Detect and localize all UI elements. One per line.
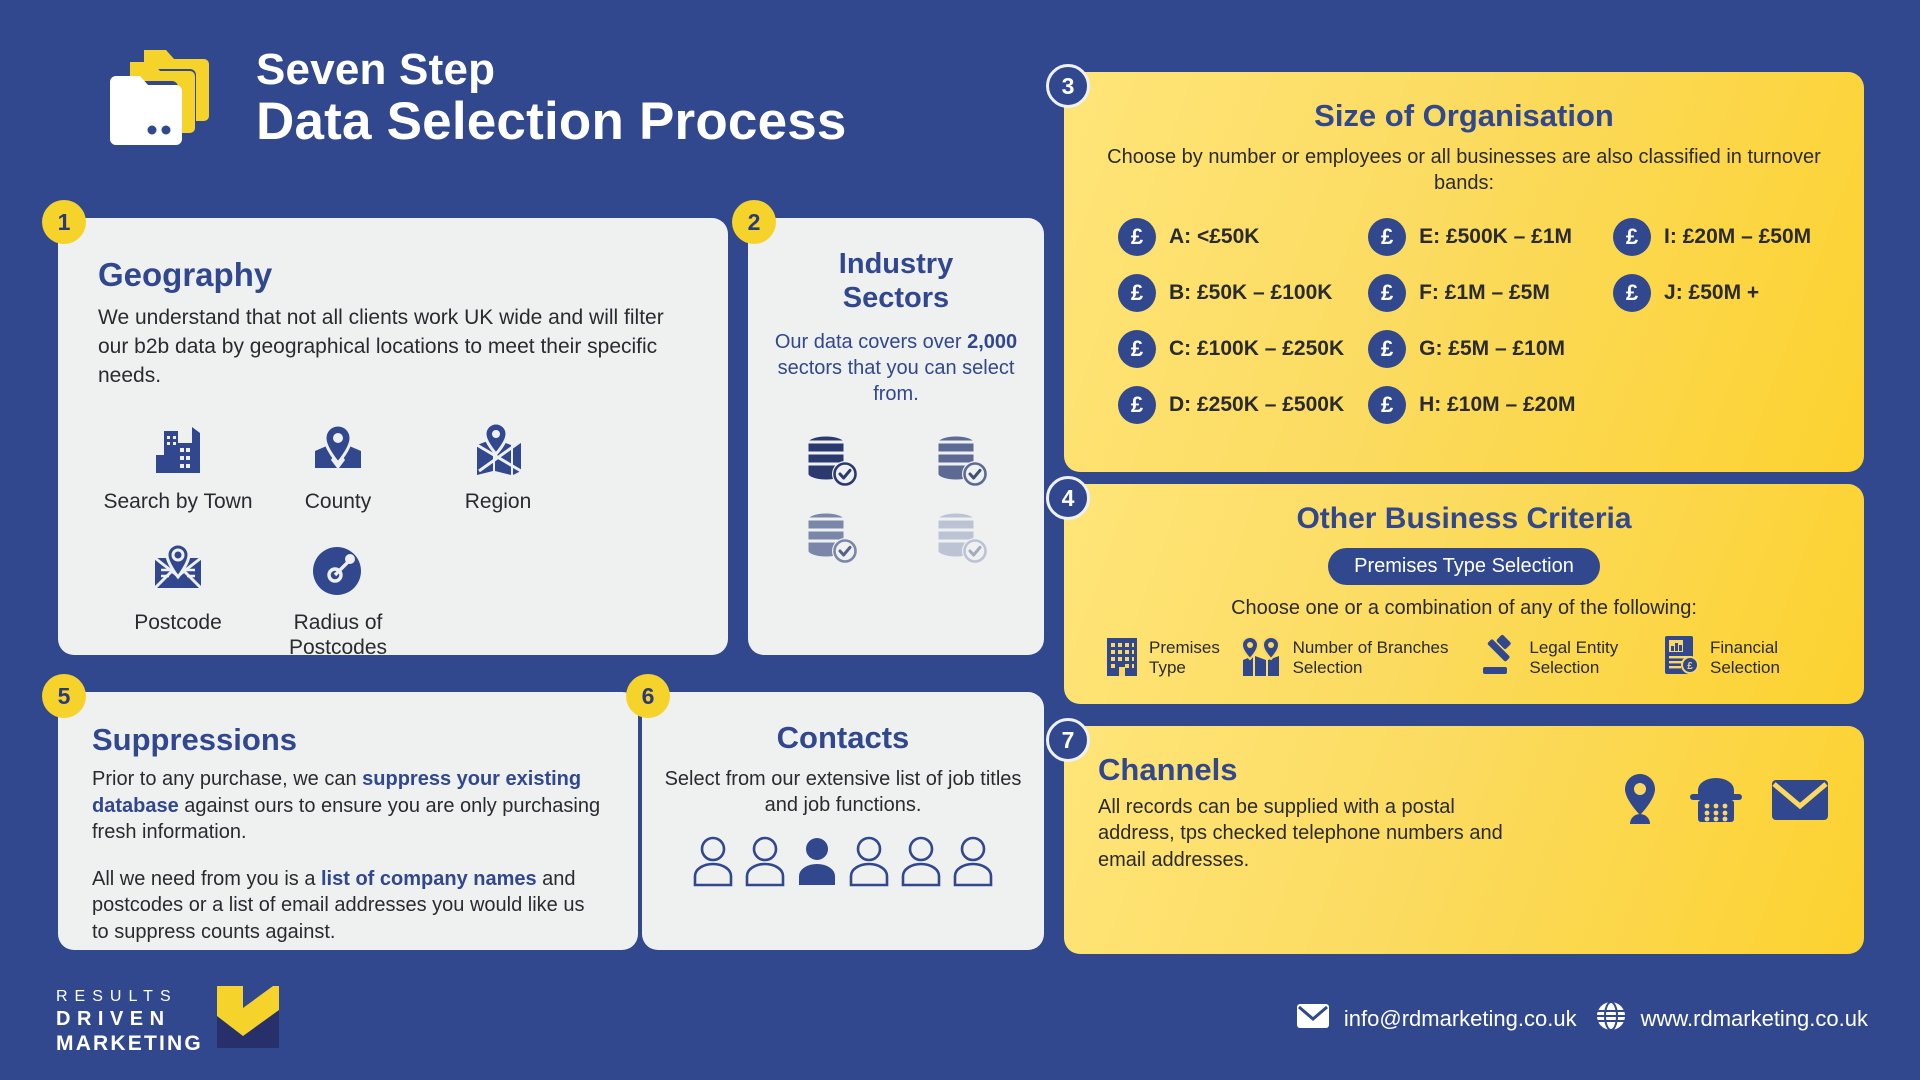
turnover-bands: £A: <£50K £E: £500K – £1M £I: £20M – £50… xyxy=(1094,218,1834,424)
criteria-item-number-of-branches[interactable]: Number of Branches Selection xyxy=(1238,634,1481,681)
person-filled-icon xyxy=(795,835,839,892)
geo-item-search-by-town[interactable]: Search by Town xyxy=(98,415,258,514)
criteria-item-label: Financial Selection xyxy=(1710,638,1824,676)
premises-type-selection-pill[interactable]: Premises Type Selection xyxy=(1328,548,1600,585)
geo-item-radius-of-postcodes[interactable]: Radius of Postcodes xyxy=(258,536,418,660)
band-e[interactable]: £E: £500K – £1M xyxy=(1344,218,1589,256)
band-c[interactable]: £C: £100K – £250K xyxy=(1094,330,1344,368)
supp-p1-a: Prior to any purchase, we can xyxy=(92,768,362,790)
map-pin-fold-icon xyxy=(309,415,367,477)
person-outline-icon xyxy=(899,835,943,892)
criteria-items: Premises Type Number of Branches xyxy=(1090,634,1838,681)
band-i[interactable]: £I: £20M – £50M xyxy=(1589,218,1834,256)
contacts-body: Select from our extensive list of job ti… xyxy=(664,766,1022,819)
industry-title-line2: Sectors xyxy=(843,282,949,314)
pound-icon: £ xyxy=(1368,218,1406,256)
band-label: H: £10M – £20M xyxy=(1419,393,1575,417)
person-outline-icon xyxy=(691,835,735,892)
envelope-icon xyxy=(1770,776,1830,829)
card-contacts: 6 Contacts Select from our extensive lis… xyxy=(642,692,1044,950)
suppressions-paragraph-2: All we need from you is a list of compan… xyxy=(92,866,604,946)
footer-logo: RESULTS DRIVEN MARKETING xyxy=(56,982,281,1061)
geo-item-region[interactable]: Region xyxy=(418,415,578,514)
office-building-icon xyxy=(1104,634,1140,681)
industry-sector-count: 2,000 xyxy=(967,331,1017,353)
chevron-mark-icon xyxy=(215,982,281,1061)
card-geography: 1 Geography We understand that not all c… xyxy=(58,218,728,655)
industry-body: Our data covers over 2,000 sectors that … xyxy=(774,329,1018,407)
geo-item-postcode[interactable]: Postcode xyxy=(98,536,258,660)
band-label: I: £20M – £50M xyxy=(1664,225,1811,249)
band-d[interactable]: £D: £250K – £500K xyxy=(1094,386,1344,424)
band-spacer-1 xyxy=(1589,330,1834,368)
band-h[interactable]: £H: £10M – £20M xyxy=(1344,386,1589,424)
header-subtitle: Seven Step xyxy=(256,46,847,94)
industry-title-line1: Industry xyxy=(839,248,953,280)
card-industry-sectors: 2 Industry Sectors Our data covers over … xyxy=(748,218,1044,655)
branches-pins-icon xyxy=(1238,634,1284,681)
logo-line-marketing: MARKETING xyxy=(56,1033,203,1054)
criteria-item-legal-entity[interactable]: Legal Entity Selection xyxy=(1480,634,1661,681)
footer-website-text: www.rdmarketing.co.uk xyxy=(1641,1006,1868,1032)
envelope-icon xyxy=(1296,1003,1330,1034)
geo-item-label: Postcode xyxy=(134,610,222,635)
band-label: G: £5M – £10M xyxy=(1419,337,1565,361)
radius-radar-icon xyxy=(310,536,366,598)
band-a[interactable]: £A: <£50K xyxy=(1094,218,1344,256)
map-region-pin-icon xyxy=(469,415,527,477)
band-label: J: £50M + xyxy=(1664,281,1759,305)
band-b[interactable]: £B: £50K – £100K xyxy=(1094,274,1344,312)
band-label: E: £500K – £1M xyxy=(1419,225,1572,249)
database-check-icon xyxy=(930,506,992,573)
pound-icon: £ xyxy=(1368,386,1406,424)
industry-title: Industry Sectors xyxy=(774,248,1018,315)
geography-items: Search by Town County xyxy=(98,415,688,683)
industry-body-post: sectors that you can select from. xyxy=(778,357,1015,405)
page-title: Data Selection Process xyxy=(256,93,847,150)
criteria-item-premises-type[interactable]: Premises Type xyxy=(1104,634,1238,681)
channels-icons xyxy=(1618,772,1830,833)
globe-icon xyxy=(1595,1000,1627,1037)
geography-title: Geography xyxy=(98,256,688,294)
step-badge-1: 1 xyxy=(42,200,86,244)
step-badge-2: 2 xyxy=(732,200,776,244)
footer-email-text: info@rdmarketing.co.uk xyxy=(1344,1006,1577,1032)
step-badge-6: 6 xyxy=(626,674,670,718)
contacts-people-icons xyxy=(664,835,1022,892)
pound-icon: £ xyxy=(1118,330,1156,368)
logo-line-driven: DRIVEN xyxy=(56,1009,203,1029)
card-suppressions: 5 Suppressions Prior to any purchase, we… xyxy=(58,692,638,950)
geo-item-label: Radius of Postcodes xyxy=(258,610,418,660)
location-pin-icon xyxy=(1618,772,1662,833)
criteria-item-label: Premises Type xyxy=(1149,638,1238,676)
database-check-icon xyxy=(800,506,862,573)
financial-document-icon: £ xyxy=(1661,634,1701,681)
geo-item-county[interactable]: County xyxy=(258,415,418,514)
suppressions-paragraph-1: Prior to any purchase, we can suppress y… xyxy=(92,766,604,846)
geo-item-label: Search by Town xyxy=(103,489,252,514)
supp-p2-a: All we need from you is a xyxy=(92,868,321,890)
criteria-title: Other Business Criteria xyxy=(1090,502,1838,536)
database-icons xyxy=(774,429,1018,573)
buildings-icon xyxy=(150,415,206,477)
band-j[interactable]: £J: £50M + xyxy=(1589,274,1834,312)
footer-website[interactable]: www.rdmarketing.co.uk xyxy=(1595,1000,1868,1037)
band-label: C: £100K – £250K xyxy=(1169,337,1344,361)
supp-p2-highlight: list of company names xyxy=(321,868,537,890)
telephone-icon xyxy=(1688,774,1744,831)
step-badge-4: 4 xyxy=(1046,476,1090,520)
database-check-icon xyxy=(930,429,992,496)
geography-body: We understand that not all clients work … xyxy=(98,304,688,391)
contacts-title: Contacts xyxy=(664,720,1022,756)
step-badge-7: 7 xyxy=(1046,718,1090,762)
size-subtitle: Choose by number or employees or all bus… xyxy=(1094,144,1834,196)
channels-title: Channels xyxy=(1098,752,1518,788)
geo-item-label: Region xyxy=(465,489,532,514)
pound-icon: £ xyxy=(1368,274,1406,312)
band-label: F: £1M – £5M xyxy=(1419,281,1550,305)
pound-icon: £ xyxy=(1613,274,1651,312)
channels-body: All records can be supplied with a posta… xyxy=(1098,794,1518,873)
envelope-pin-icon xyxy=(149,536,207,598)
geo-item-label: County xyxy=(305,489,372,514)
band-spacer-2 xyxy=(1589,386,1834,424)
person-outline-icon xyxy=(951,835,995,892)
logo-line-results: RESULTS xyxy=(56,989,203,1005)
criteria-item-label: Legal Entity Selection xyxy=(1529,638,1661,676)
band-label: D: £250K – £500K xyxy=(1169,393,1344,417)
industry-body-pre: Our data covers over xyxy=(775,331,967,353)
band-label: B: £50K – £100K xyxy=(1169,281,1332,305)
footer-email[interactable]: info@rdmarketing.co.uk xyxy=(1296,1003,1577,1034)
pound-icon: £ xyxy=(1118,274,1156,312)
criteria-item-label: Number of Branches Selection xyxy=(1293,638,1481,676)
size-title: Size of Organisation xyxy=(1094,98,1834,134)
card-channels: 7 Channels All records can be supplied w… xyxy=(1064,726,1864,954)
card-size-of-organisation: 3 Size of Organisation Choose by number … xyxy=(1064,72,1864,472)
pound-icon: £ xyxy=(1118,218,1156,256)
footer-contacts: info@rdmarketing.co.uk www.rdmarketing.c… xyxy=(1296,1000,1868,1037)
pound-icon: £ xyxy=(1368,330,1406,368)
person-outline-icon xyxy=(743,835,787,892)
criteria-item-financial-selection[interactable]: £ Financial Selection xyxy=(1661,634,1824,681)
pound-icon: £ xyxy=(1118,386,1156,424)
pound-icon: £ xyxy=(1613,218,1651,256)
step-badge-3: 3 xyxy=(1046,64,1090,108)
gavel-icon xyxy=(1480,634,1520,681)
page-header: Seven Step Data Selection Process xyxy=(100,42,847,154)
svg-text:£: £ xyxy=(1687,661,1693,672)
band-g[interactable]: £G: £5M – £10M xyxy=(1344,330,1589,368)
band-label: A: <£50K xyxy=(1169,225,1259,249)
folder-stack-icon xyxy=(100,42,218,154)
database-check-icon xyxy=(800,429,862,496)
card-other-business-criteria: 4 Other Business Criteria Premises Type … xyxy=(1064,484,1864,704)
infographic-page: Seven Step Data Selection Process 1 Geog… xyxy=(0,0,1920,1080)
step-badge-5: 5 xyxy=(42,674,86,718)
person-outline-icon xyxy=(847,835,891,892)
band-f[interactable]: £F: £1M – £5M xyxy=(1344,274,1589,312)
suppressions-title: Suppressions xyxy=(92,722,604,758)
criteria-subtitle: Choose one or a combination of any of th… xyxy=(1090,597,1838,620)
